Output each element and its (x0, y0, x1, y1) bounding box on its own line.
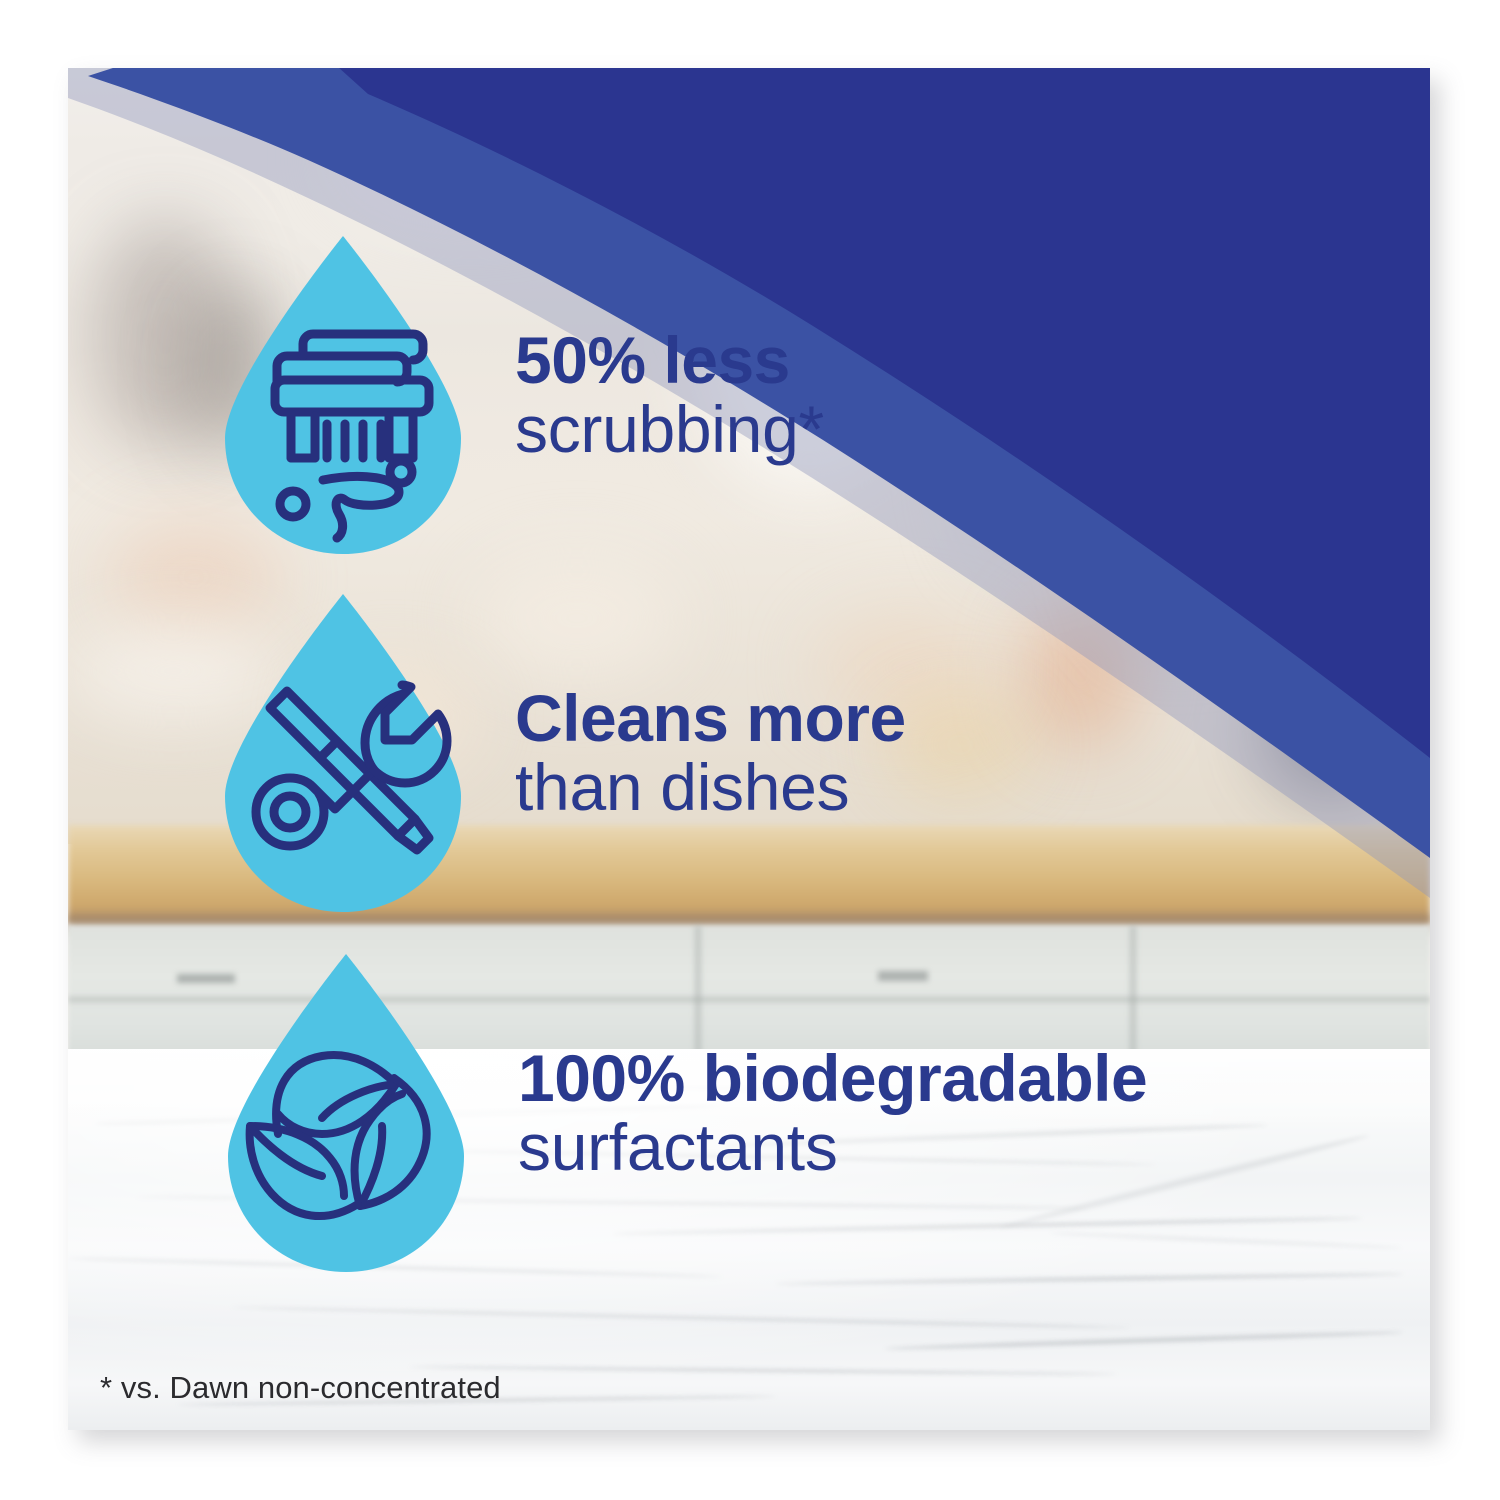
feature-copy-scrubbing: 50% less scrubbing* (515, 326, 824, 463)
feature-headline: 50% less (515, 326, 824, 395)
feature-row-scrubbing: 50% less scrubbing* (215, 232, 824, 558)
background-blur-shape (885, 695, 1035, 795)
droplet-badge-scrubbing (215, 232, 471, 558)
background-blur-shape (1267, 654, 1397, 794)
droplet-shape (218, 950, 474, 1276)
droplet-badge-biodegradable (218, 950, 474, 1276)
feature-subline: than dishes (515, 753, 906, 822)
droplet-badge-cleans-more (215, 590, 471, 916)
feature-subline: surfactants (518, 1113, 1147, 1182)
feature-copy-cleans-more: Cleans more than dishes (515, 684, 906, 821)
background-blur-shape (1239, 409, 1349, 639)
background-blur-shape (1103, 259, 1253, 639)
background-blur-shape (1021, 599, 1141, 749)
feature-row-cleans-more: Cleans more than dishes (215, 590, 906, 916)
background-blur-shape (340, 95, 600, 215)
marble-vein (885, 1330, 1402, 1351)
droplet-shape (215, 232, 471, 558)
background-blur-shape (967, 231, 1087, 561)
feature-headline: 100% biodegradable (518, 1044, 1147, 1113)
marble-vein (409, 1365, 1117, 1375)
droplet-shape (215, 590, 471, 916)
feature-subline: scrubbing* (515, 395, 824, 464)
feature-headline: Cleans more (515, 684, 906, 753)
footnote-disclaimer: * vs. Dawn non-concentrated (100, 1370, 501, 1406)
background-blur-shape (640, 82, 940, 222)
feature-copy-biodegradable: 100% biodegradable surfactants (518, 1044, 1147, 1181)
feature-row-biodegradable: 100% biodegradable surfactants (218, 950, 1147, 1276)
screenshot-root: 50% less scrubbing* (0, 0, 1500, 1500)
marble-vein (232, 1305, 1131, 1328)
product-feature-panel: 50% less scrubbing* (68, 68, 1430, 1430)
